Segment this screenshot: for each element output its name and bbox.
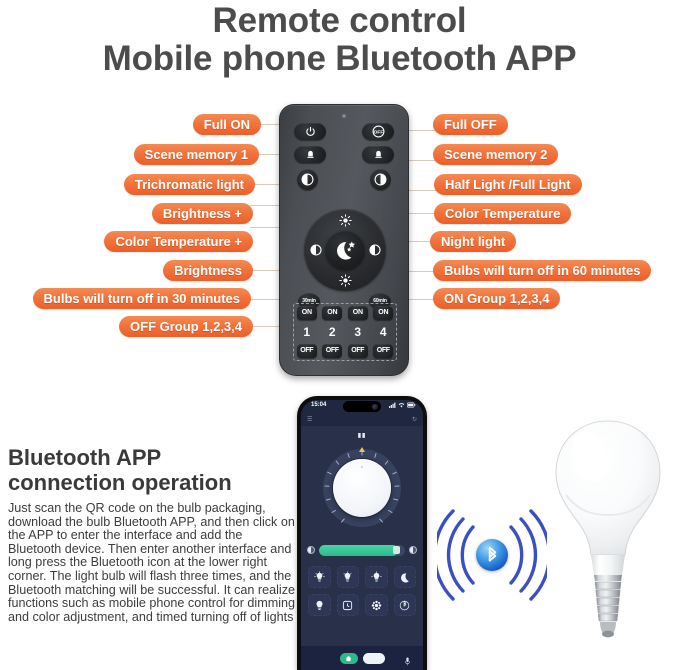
wifi-icon [398,402,405,408]
bulb-warm-icon [314,571,325,583]
contrast-left-icon [301,173,314,186]
color-temperature-down-button[interactable] [367,242,382,257]
bulb-medium-button[interactable] [337,566,360,588]
cellular-signal-icon [389,402,396,408]
contrast-right-icon [369,244,381,256]
svg-text:OFF: OFF [373,129,383,135]
callout-scene-memory-2[interactable]: Scene memory 2 [433,144,558,165]
bluetooth-heading-line-2: connection operation [8,470,293,495]
moon-stars-icon [332,238,358,262]
phone-nav-bar[interactable] [301,646,423,670]
led-bulb-graphic [546,415,670,665]
callout-label: Night light [441,234,505,249]
trichromatic-light-button[interactable] [297,169,318,190]
sun-icon [339,274,352,287]
group-column-2[interactable]: ON 2 OFF [320,304,346,360]
device-name-label: ▮▮ [301,432,423,439]
sun-icon [339,214,352,227]
menu-icon[interactable]: ☰ [307,416,312,423]
group-3-off-button[interactable]: OFF [348,344,368,358]
group-1-off-button[interactable]: OFF [297,344,317,358]
callout-label: Half Light /Full Light [445,177,571,192]
callout-label: Bulbs will turn off in 60 minutes [444,263,640,278]
timer-button[interactable] [337,594,360,616]
group-column-3[interactable]: ON 3 OFF [345,304,371,360]
page-title: Remote control Mobile phone Bluetooth AP… [0,0,679,78]
callout-label: Color Temperature + [115,234,242,249]
callout-timer-30[interactable]: Bulbs will turn off in 30 minutes [33,288,251,309]
status-time: 15:04 [311,402,326,408]
callout-label: OFF Group 1,2,3,4 [130,319,242,334]
nav-mic-button[interactable] [404,653,411,670]
power-off-button[interactable]: OFF [362,123,394,140]
callout-trichromatic-light[interactable]: Trichromatic light [124,174,255,195]
scene-memory-icon [373,149,384,161]
callout-label: Brightness [174,263,242,278]
power-on-button[interactable] [294,123,326,140]
brightness-down-button[interactable] [337,272,353,288]
bulb-cool-button[interactable] [365,566,388,588]
group-2-number: 2 [329,326,336,338]
scene-memory-1-button[interactable] [294,146,326,163]
light-bulb-icon [546,415,670,665]
contrast-right-icon [374,173,387,186]
group-column-4[interactable]: ON 4 OFF [371,304,397,360]
dynamic-island [343,401,381,412]
brightness-high-icon [409,546,417,554]
status-icons [389,402,416,408]
nav-keyboard-button[interactable] [363,653,385,664]
callout-scene-memory-1[interactable]: Scene memory 1 [134,144,259,165]
phone-screen: 15:04 ☰ ↻ ▮▮ [301,400,423,670]
power-icon [305,126,316,137]
bluetooth-logo-badge [476,539,508,571]
bluetooth-section-heading: Bluetooth APP connection operation [8,445,293,495]
bluetooth-pair-icon [399,600,410,611]
callout-timer-60[interactable]: Bulbs will turn off in 60 minutes [433,260,651,281]
bulb-plain-button[interactable] [308,594,331,616]
scene-memory-2-button[interactable] [362,146,394,163]
remote-control: OFF [279,104,409,376]
bluetooth-icon [485,546,500,565]
color-temperature-up-button[interactable] [308,242,323,257]
phone-status-bar: 15:04 [301,400,423,413]
callout-brightness-up[interactable]: Brightness + [152,203,253,224]
battery-icon [407,402,416,408]
callout-night-light[interactable]: Night light [430,231,516,252]
nav-home-button[interactable] [340,653,358,664]
front-camera-icon [372,404,378,410]
callout-label: Color Temperature [445,206,560,221]
callout-label: Full ON [204,117,250,132]
callout-label: Full OFF [444,117,497,132]
bluetooth-section-body: Just scan the QR code on the bulb packag… [8,502,295,624]
microphone-icon [404,657,411,666]
half-full-light-button[interactable] [370,169,391,190]
contrast-left-icon [310,244,322,256]
group-4-on-button[interactable]: ON [373,306,393,320]
night-light-button[interactable] [325,230,365,270]
title-line-1: Remote control [0,2,679,40]
callout-full-off[interactable]: Full OFF [433,114,508,135]
moon-icon [399,572,410,583]
callout-full-on[interactable]: Full ON [193,114,261,135]
scene-memory-icon [305,149,316,161]
home-icon [345,655,352,662]
group-4-off-button[interactable]: OFF [373,344,393,358]
group-2-on-button[interactable]: ON [322,306,342,320]
control-dial[interactable] [304,209,386,291]
share-icon[interactable]: ↻ [412,416,417,423]
group-3-on-button[interactable]: ON [348,306,368,320]
callout-label: Trichromatic light [135,177,244,192]
callout-on-group[interactable]: ON Group 1,2,3,4 [433,288,560,309]
group-1-on-button[interactable]: ON [297,306,317,320]
group-2-off-button[interactable]: OFF [322,344,342,358]
bulb-cool-icon [371,571,382,583]
dial-indicator-icon [359,447,365,452]
night-mode-button[interactable] [394,566,417,588]
bluetooth-signal-graphic [437,505,547,605]
bulb-plain-icon [314,599,325,611]
callout-half-full-light[interactable]: Half Light /Full Light [434,174,582,195]
callout-label: Scene memory 1 [145,147,248,162]
off-icon: OFF [372,125,385,138]
scene-button-grid[interactable] [308,566,416,616]
group-keypad[interactable]: ON 1 OFF ON 2 OFF ON 3 OFF ON 4 OFF [293,303,397,361]
callout-brightness[interactable]: Brightness [163,260,253,281]
group-3-number: 3 [354,326,361,338]
timer-icon [342,600,353,611]
group-4-number: 4 [380,326,387,338]
brightness-slider[interactable] [319,545,405,556]
group-column-1[interactable]: ON 1 OFF [294,304,320,360]
slider-handle[interactable] [393,546,400,554]
callout-color-temp-up[interactable]: Color Temperature + [104,231,253,252]
callout-label: Brightness + [163,206,242,221]
color-wheel-icon [371,600,382,611]
brightness-low-icon [307,546,315,554]
callout-off-group[interactable]: OFF Group 1,2,3,4 [119,316,253,337]
title-line-2: Mobile phone Bluetooth APP [0,40,679,78]
infographic-canvas: Remote control Mobile phone Bluetooth AP… [0,0,679,670]
bluetooth-pair-button[interactable] [394,594,417,616]
callout-label: ON Group 1,2,3,4 [444,291,549,306]
callout-label: Scene memory 2 [444,147,547,162]
bulb-warm-button[interactable] [308,566,331,588]
phone-app-bar: ☰ ↻ [301,413,423,426]
brightness-up-button[interactable] [337,212,353,228]
callout-color-temperature[interactable]: Color Temperature [434,203,571,224]
color-wheel-button[interactable] [365,594,388,616]
bulb-medium-icon [342,571,353,583]
brightness-slider-row[interactable] [307,541,417,559]
ir-led-icon [342,114,346,118]
bluetooth-heading-line-1: Bluetooth APP [8,445,293,470]
slider-fill [319,545,398,556]
brightness-dial-area[interactable] [301,443,423,535]
callout-label: Bulbs will turn off in 30 minutes [44,291,240,306]
smartphone-mockup: 15:04 ☰ ↻ ▮▮ [297,396,427,670]
group-1-number: 1 [303,326,310,338]
knob-position-dot [361,466,363,468]
brightness-knob[interactable] [333,459,391,517]
